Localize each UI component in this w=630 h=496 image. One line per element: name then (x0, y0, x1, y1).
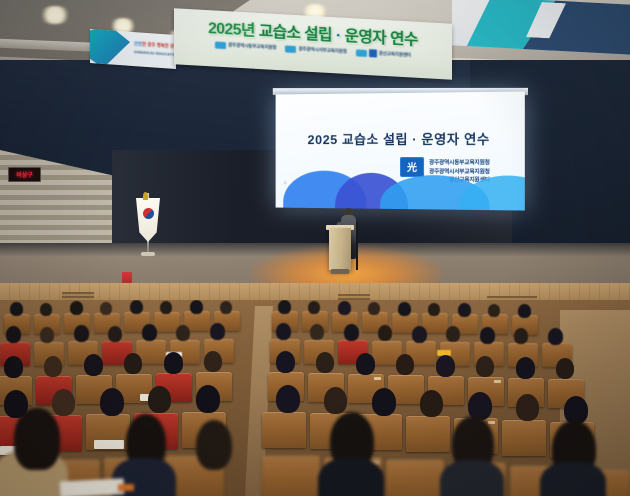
organizer-logo-icon (356, 49, 367, 57)
handout-paper (60, 478, 125, 496)
audience-head (324, 387, 347, 414)
pen (118, 484, 134, 491)
audience-shoulders (318, 458, 384, 496)
audience-head (276, 385, 300, 413)
audience-head (356, 353, 375, 375)
side-wall-banner: 안전한 광주 행복한 광주 GWANGJU EDUCATION (90, 29, 176, 69)
audience-head (160, 301, 172, 314)
seat-number-tag (494, 380, 501, 383)
audience-head (518, 304, 531, 318)
audience-head (100, 388, 124, 416)
audience-head (52, 389, 75, 416)
organizer-name: 광산교육지원센터 (379, 51, 411, 59)
audience-head (338, 301, 351, 315)
event-title-year: 2025년 (208, 20, 255, 40)
audience-head (10, 302, 23, 316)
podium (329, 228, 351, 270)
audience-head (220, 301, 232, 314)
audience-head (142, 324, 157, 341)
audience-head (378, 325, 392, 341)
audience-head (476, 356, 494, 377)
flag-finial (143, 192, 148, 200)
audience-head (412, 326, 427, 343)
audience-head (446, 326, 460, 342)
audience-head (70, 301, 83, 315)
organizer-name: 광주광역시동부교육지원청 (228, 42, 276, 51)
audience-head (196, 385, 220, 413)
swoosh-graphic-icon (90, 29, 130, 69)
handout-paper (94, 440, 124, 449)
organizer-name: 광주광역시서부교육지원청 (298, 46, 346, 55)
flag-stand-base (141, 252, 155, 256)
audience-shoulders (540, 462, 606, 496)
audience-head (40, 303, 52, 316)
taegeuk-symbol-icon (143, 208, 154, 219)
audience-head (480, 327, 495, 344)
audience-head (276, 351, 295, 373)
audience-head (204, 351, 222, 372)
seat (386, 460, 444, 496)
audience-head (436, 355, 455, 377)
audience-head (368, 302, 380, 315)
seat (262, 412, 306, 448)
audience-seating-area (0, 300, 630, 496)
audience-shoulders (440, 460, 504, 496)
projection-screen: 2025 교습소 설립 · 운영자 연수 광주광역시동부교육지원청 광주광역시서… (276, 91, 525, 210)
organizer-logo-icon (215, 41, 226, 49)
audience-head (556, 358, 574, 379)
right-ceiling-banner (452, 0, 630, 55)
audience-head (74, 325, 89, 342)
audience-head (398, 302, 411, 316)
auditorium-photo: 비상구 안전한 광주 행복한 광주 GWANGJU EDUCATION 2025… (0, 0, 630, 496)
side-banner-line2: GWANGJU EDUCATION (134, 49, 176, 57)
audience-head (514, 328, 528, 344)
slide-title: 2025 교습소 설립 · 운영자 연수 (276, 128, 525, 148)
audience-head (278, 300, 291, 314)
audience-head (164, 352, 183, 374)
gwangju-emblem-icon (369, 49, 377, 57)
seat (406, 416, 450, 452)
ceiling-light (38, 6, 72, 24)
audience-head (310, 324, 324, 340)
organizer-item: 광주광역시동부교육지원청 (215, 41, 276, 51)
audience-head (516, 394, 539, 421)
audience-head (6, 326, 21, 343)
audience-head (276, 323, 291, 340)
organizer-item: 광산교육지원센터 (356, 48, 411, 59)
audience-head (14, 408, 60, 470)
seat-number-tag (374, 377, 381, 380)
slide-org-line: 광주광역시서부교육지원청 (429, 167, 490, 175)
emergency-exit-sign: 비상구 (8, 167, 41, 182)
event-title-separator: · (336, 27, 341, 44)
event-title-tail: 운영자 연수 (345, 28, 418, 49)
audience-head (420, 390, 443, 417)
seat (262, 456, 320, 496)
audience-head (130, 300, 143, 314)
audience-head (44, 356, 62, 377)
audience-head (4, 356, 23, 378)
audience-head (458, 303, 471, 317)
audience-head (40, 327, 54, 343)
audience-head (488, 304, 500, 317)
audience-head (344, 324, 359, 341)
seat (502, 420, 546, 456)
microphone-stand (356, 222, 358, 270)
audience-head (176, 325, 190, 341)
audience-head (516, 357, 535, 379)
organizer-item: 광주광역시서부교육지원청 (285, 45, 346, 55)
event-title-main: 교습소 설립 (259, 23, 332, 44)
audience-head (308, 301, 320, 314)
podium-base (331, 269, 349, 274)
exit-sign-label: 비상구 (16, 170, 33, 179)
audience-head (100, 302, 112, 315)
seat-number-tag (488, 421, 495, 424)
audience-head (190, 300, 203, 314)
gwangju-education-logo-icon (400, 157, 424, 177)
audience-head (84, 354, 103, 376)
audience-head (396, 354, 414, 375)
slide-corner-note: 교 (283, 180, 287, 186)
audience-head (108, 326, 122, 342)
audience-head (316, 352, 334, 373)
audience-head (548, 328, 563, 345)
slide-org-line: 광주광역시동부교육지원청 (429, 158, 490, 166)
audience-head (372, 388, 396, 416)
audience-head (196, 420, 232, 470)
side-banner-line1-accent: 안전 (134, 41, 142, 47)
audience-head (210, 323, 225, 340)
audience-head (148, 386, 171, 413)
audience-head (428, 303, 440, 316)
organizer-logo-icon (285, 45, 296, 53)
audience-head (124, 353, 142, 374)
